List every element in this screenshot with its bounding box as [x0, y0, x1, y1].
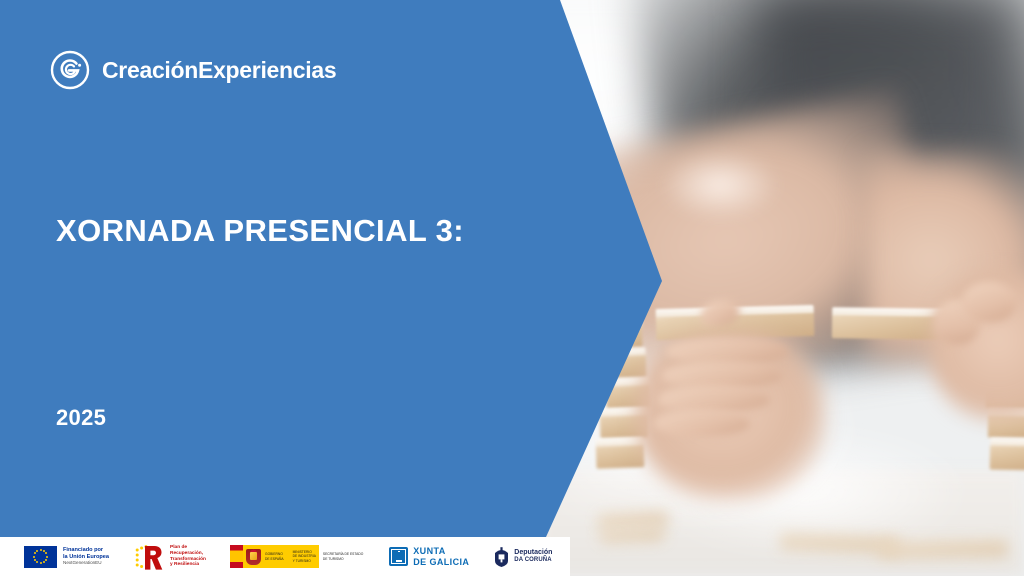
wooden-block-right-5 — [990, 438, 1024, 471]
eu-star-icon — [46, 556, 48, 558]
photo-foreground-block-2 — [600, 527, 664, 543]
eu-star-icon — [36, 561, 38, 563]
presentation-slide: CreaciónExperiencias XORNADA PRESENCIAL … — [0, 0, 1024, 576]
prtr-logo: Plan de Recuperación, Transformación y R… — [135, 544, 206, 570]
eu-funding-text: Financiado por la Unión Europea NextGene… — [63, 547, 109, 566]
deputacion-line-1: Deputación — [514, 549, 552, 557]
eu-star-icon — [45, 552, 47, 554]
xunta-galicia-logo: XUNTA DE GALICIA — [389, 546, 469, 566]
footer-logo-bar: Financiado por la Unión Europea NextGene… — [0, 537, 570, 576]
eu-star-icon — [34, 559, 36, 561]
secretaria-line-1: SECRETARÍA DE ESTADO — [323, 552, 363, 556]
photo-left-finger-2 — [662, 362, 782, 388]
eu-line-3: NextGenerationEU — [63, 560, 109, 565]
brand-logo: CreaciónExperiencias — [50, 50, 336, 90]
eu-flag-icon — [24, 546, 57, 568]
slide-year: 2025 — [56, 405, 106, 431]
footer-logo-list: Financiado por la Unión Europea NextGene… — [0, 544, 552, 570]
deputacion-text: Deputación DA CORUÑA — [514, 549, 552, 564]
slide-title: XORNADA PRESENCIAL 3: — [56, 212, 526, 251]
eu-star-icon — [43, 561, 45, 563]
deputacion-line-2: DA CORUÑA — [514, 557, 552, 564]
eu-line-2: la Unión Europea — [63, 554, 109, 561]
xunta-chalice-icon — [389, 547, 408, 566]
xunta-line-2: DE GALICIA — [413, 557, 469, 567]
ministerio-line-3: Y TURISMO — [293, 559, 316, 563]
deputacion-tower-icon — [493, 546, 510, 567]
xunta-line-1: XUNTA — [413, 546, 469, 556]
deputacion-coruna-logo: Deputación DA CORUÑA — [493, 546, 552, 567]
brand-name: CreaciónExperiencias — [102, 57, 336, 84]
prtr-line-4: y Resiliencia — [170, 562, 206, 568]
secretaria-line-2: DE TURISMO — [323, 557, 363, 561]
prtr-r-icon — [135, 544, 165, 570]
photo-left-finger-4 — [654, 410, 750, 436]
ministerio-line-2: DE INDUSTRIA — [293, 554, 316, 558]
wooden-block-left-5 — [595, 437, 644, 469]
photo-foreground-block-4 — [878, 539, 1008, 559]
secretaria-estado-text: SECRETARÍA DE ESTADO DE TURISMO — [319, 545, 367, 568]
eu-star-icon — [34, 552, 36, 554]
prtr-text: Plan de Recuperación, Transformación y R… — [170, 545, 206, 568]
eu-star-icon — [33, 556, 35, 558]
photo-right-finger-1 — [962, 282, 1016, 322]
prtr-line-2: Recuperación, — [170, 551, 206, 557]
eu-star-icon — [40, 562, 42, 564]
photo-left-finger-1 — [666, 338, 788, 364]
photo-left-finger-3 — [658, 386, 770, 412]
xunta-text: XUNTA DE GALICIA — [413, 546, 469, 566]
photo-knuckle-highlight — [660, 150, 780, 220]
gobierno-line-1: GOBIERNO — [265, 552, 284, 556]
eu-line-1: Financiado por — [63, 547, 109, 554]
ministerio-text: MINISTERIO DE INDUSTRIA Y TURISMO — [293, 550, 316, 563]
gobierno-line-2: DE ESPAÑA — [265, 557, 284, 561]
gobierno-espana-logo: GOBIERNO DE ESPAÑA MINISTERIO DE INDUSTR… — [230, 545, 367, 568]
spain-flag-stripe-icon — [230, 545, 243, 568]
gobierno-text: GOBIERNO DE ESPAÑA — [265, 552, 284, 561]
spain-coat-of-arms-icon — [246, 549, 261, 565]
eu-star-icon — [36, 550, 38, 552]
eu-funding-logo: Financiado por la Unión Europea NextGene… — [24, 546, 109, 568]
eu-star-icon — [45, 559, 47, 561]
spiral-e-circle-icon — [50, 50, 90, 90]
gobierno-panel: GOBIERNO DE ESPAÑA MINISTERIO DE INDUSTR… — [243, 545, 319, 568]
eu-star-icon — [40, 549, 42, 551]
